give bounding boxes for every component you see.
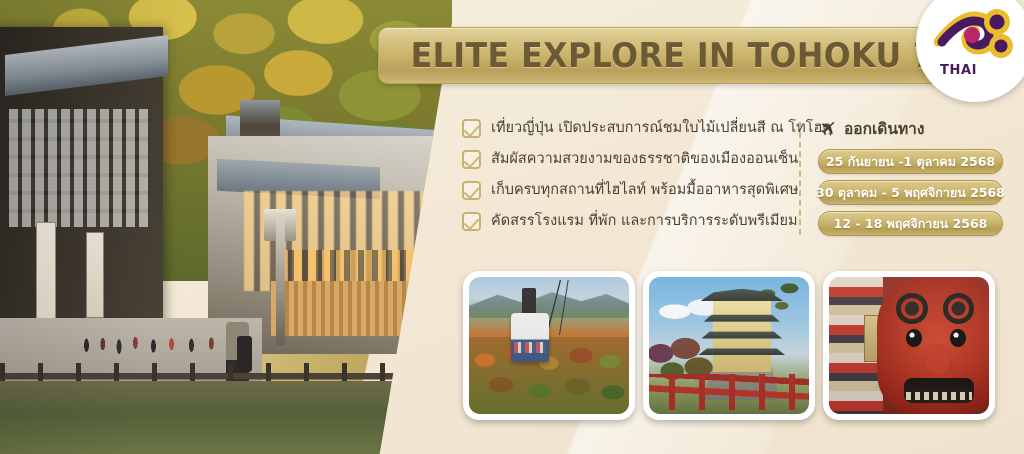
demon-eye-left: [906, 329, 922, 347]
airplane-icon: [818, 120, 837, 137]
departure-title: ออกเดินทาง: [844, 116, 924, 141]
demon-brow-left: [896, 293, 928, 323]
ropeway-cables: [482, 280, 629, 335]
demon-eye-right: [950, 329, 966, 347]
check-square-icon: [462, 181, 481, 200]
check-square-icon: [462, 212, 481, 231]
departure-date-pill[interactable]: 25 กันยายน -1 ตุลาคม 2568: [818, 149, 1003, 174]
departure-section: ออกเดินทาง 25 กันยายน -1 ตุลาคม 2568 30 …: [818, 116, 1003, 242]
demon-brow-right: [943, 293, 975, 323]
title-banner: ELITE EXPLORE IN TOHOKU 7D5N: [378, 27, 978, 84]
list-item: เที่ยวญี่ปุ่น เปิดประสบการณ์ชมใบไม้เปลี่…: [462, 113, 782, 144]
ropeway-cabin: [511, 313, 549, 362]
list-item: สัมผัสความสวยงามของธรรชาติของเมืองออนเซ็…: [462, 144, 782, 175]
check-square-icon: [462, 119, 481, 138]
section-divider: [799, 122, 801, 235]
demon-mask-photo-art: [829, 277, 989, 414]
list-item: คัดสรรโรงแรม ที่พัก และการบริการระดับพรี…: [462, 206, 782, 237]
demon-nose: [923, 343, 952, 376]
departure-date-label: 30 ตุลาคม - 5 พฤศจิกายน 2568: [816, 183, 1005, 203]
departure-date-pill[interactable]: 30 ตุลาคม - 5 พฤศจิกายน 2568: [818, 180, 1003, 205]
feature-text: เที่ยวญี่ปุ่น เปิดประสบการณ์ชมใบไม้เปลี่…: [491, 121, 832, 137]
list-item: เก็บครบทุกสถานที่ไฮไลท์ พร้อมมื้ออาหารสุ…: [462, 175, 782, 206]
demon-mask-face: [877, 277, 989, 414]
demon-teeth: [906, 392, 972, 400]
check-square-icon: [462, 150, 481, 169]
logo-wordmark: THAI: [940, 63, 977, 78]
red-bridge-railing: [649, 374, 809, 410]
thumbnail-castle[interactable]: [643, 271, 815, 420]
castle-eave: [704, 313, 780, 321]
ropeway-photo-art: [469, 277, 629, 414]
autumn-foliage: [469, 337, 629, 414]
castle-keep: [713, 295, 771, 372]
departure-header: ออกเดินทาง: [818, 116, 1003, 141]
thumbnail-gallery: [463, 271, 995, 420]
departure-date-pill[interactable]: 12 - 18 พฤศจิกายน 2568: [818, 211, 1003, 236]
logo-inner: THAI: [932, 0, 1018, 86]
feature-list: เที่ยวญี่ปุ่น เปิดประสบการณ์ชมใบไม้เปลี่…: [462, 113, 782, 237]
feature-text: เก็บครบทุกสถานที่ไฮไลท์ พร้อมมื้ออาหารสุ…: [491, 183, 798, 199]
feature-text: คัดสรรโรงแรม ที่พัก และการบริการระดับพรี…: [491, 214, 798, 230]
thumbnail-demon-mask[interactable]: [823, 271, 995, 420]
departure-date-label: 12 - 18 พฤศจิกายน 2568: [834, 214, 988, 234]
feature-text: สัมผัสความสวยงามของธรรชาติของเมืองออนเซ็…: [491, 152, 798, 168]
departure-date-label: 25 กันยายน -1 ตุลาคม 2568: [826, 152, 995, 172]
promo-banner: ELITE EXPLORE IN TOHOKU 7D5N THAI เที่ยว…: [0, 0, 1024, 454]
thumbnail-ropeway[interactable]: [463, 271, 635, 420]
castle-photo-art: [649, 277, 809, 414]
